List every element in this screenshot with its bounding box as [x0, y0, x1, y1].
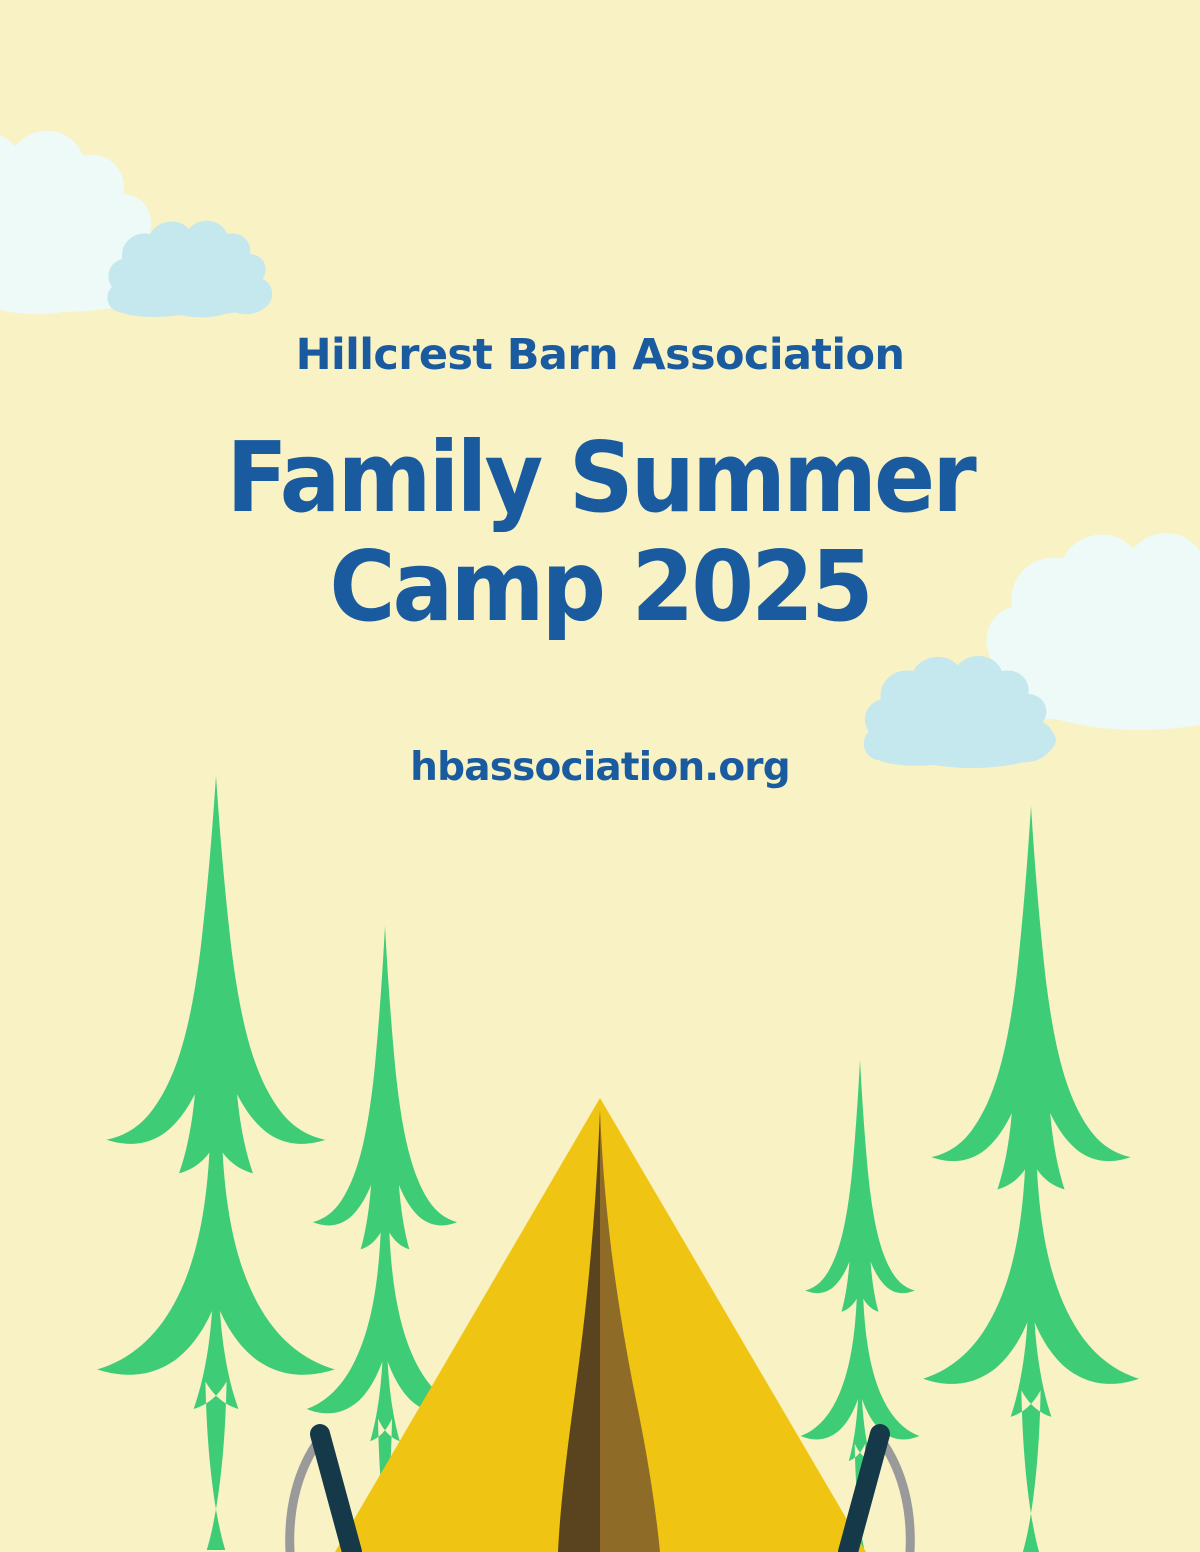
poster-canvas: Hillcrest Barn Association Family Summer… [0, 0, 1200, 1552]
camp-scene-illustration [0, 0, 1200, 1552]
